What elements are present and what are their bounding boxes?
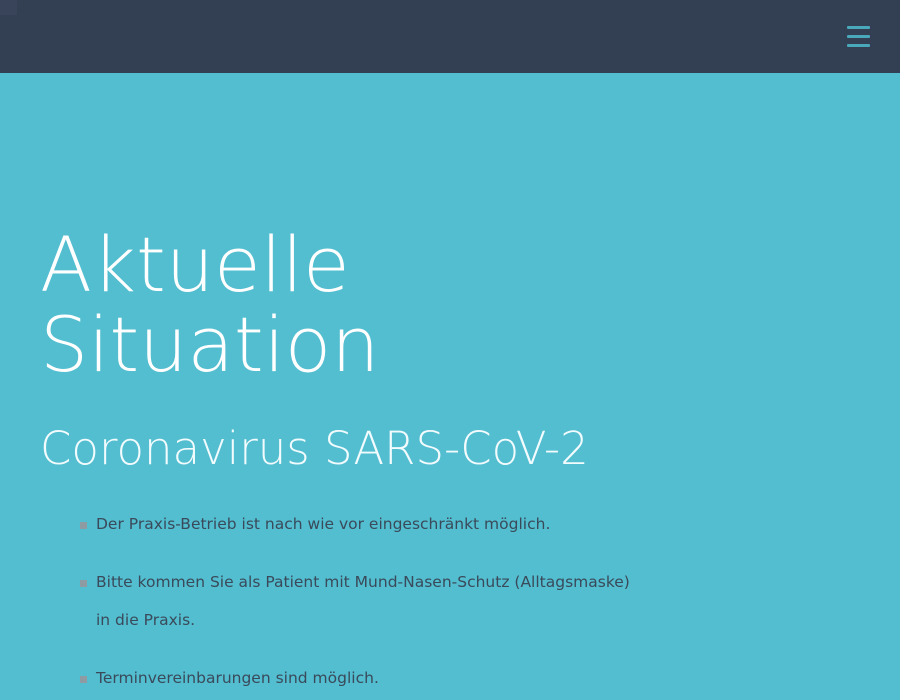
site-logo[interactable] <box>0 0 17 15</box>
hamburger-menu-icon-bar-1 <box>847 26 870 29</box>
site-header <box>0 0 900 73</box>
hamburger-menu-icon-bar-3 <box>847 44 870 47</box>
page-title: Aktuelle Situation <box>40 225 379 385</box>
info-list: Der Praxis-Betrieb ist nach wie vor eing… <box>66 505 636 700</box>
list-item: Terminvereinbarungen sind möglich. <box>66 659 636 697</box>
list-item: Der Praxis-Betrieb ist nach wie vor eing… <box>66 505 636 543</box>
hero-section: Aktuelle Situation Coronavirus SARS-CoV-… <box>0 73 900 700</box>
list-item: Bitte kommen Sie als Patient mit Mund-Na… <box>66 563 636 639</box>
page-subtitle: Coronavirus SARS-CoV-2 <box>40 423 589 475</box>
hamburger-menu-button[interactable] <box>842 25 870 49</box>
hamburger-menu-icon-bar-2 <box>847 35 870 38</box>
page-viewport: Aktuelle Situation Coronavirus SARS-CoV-… <box>0 0 900 700</box>
